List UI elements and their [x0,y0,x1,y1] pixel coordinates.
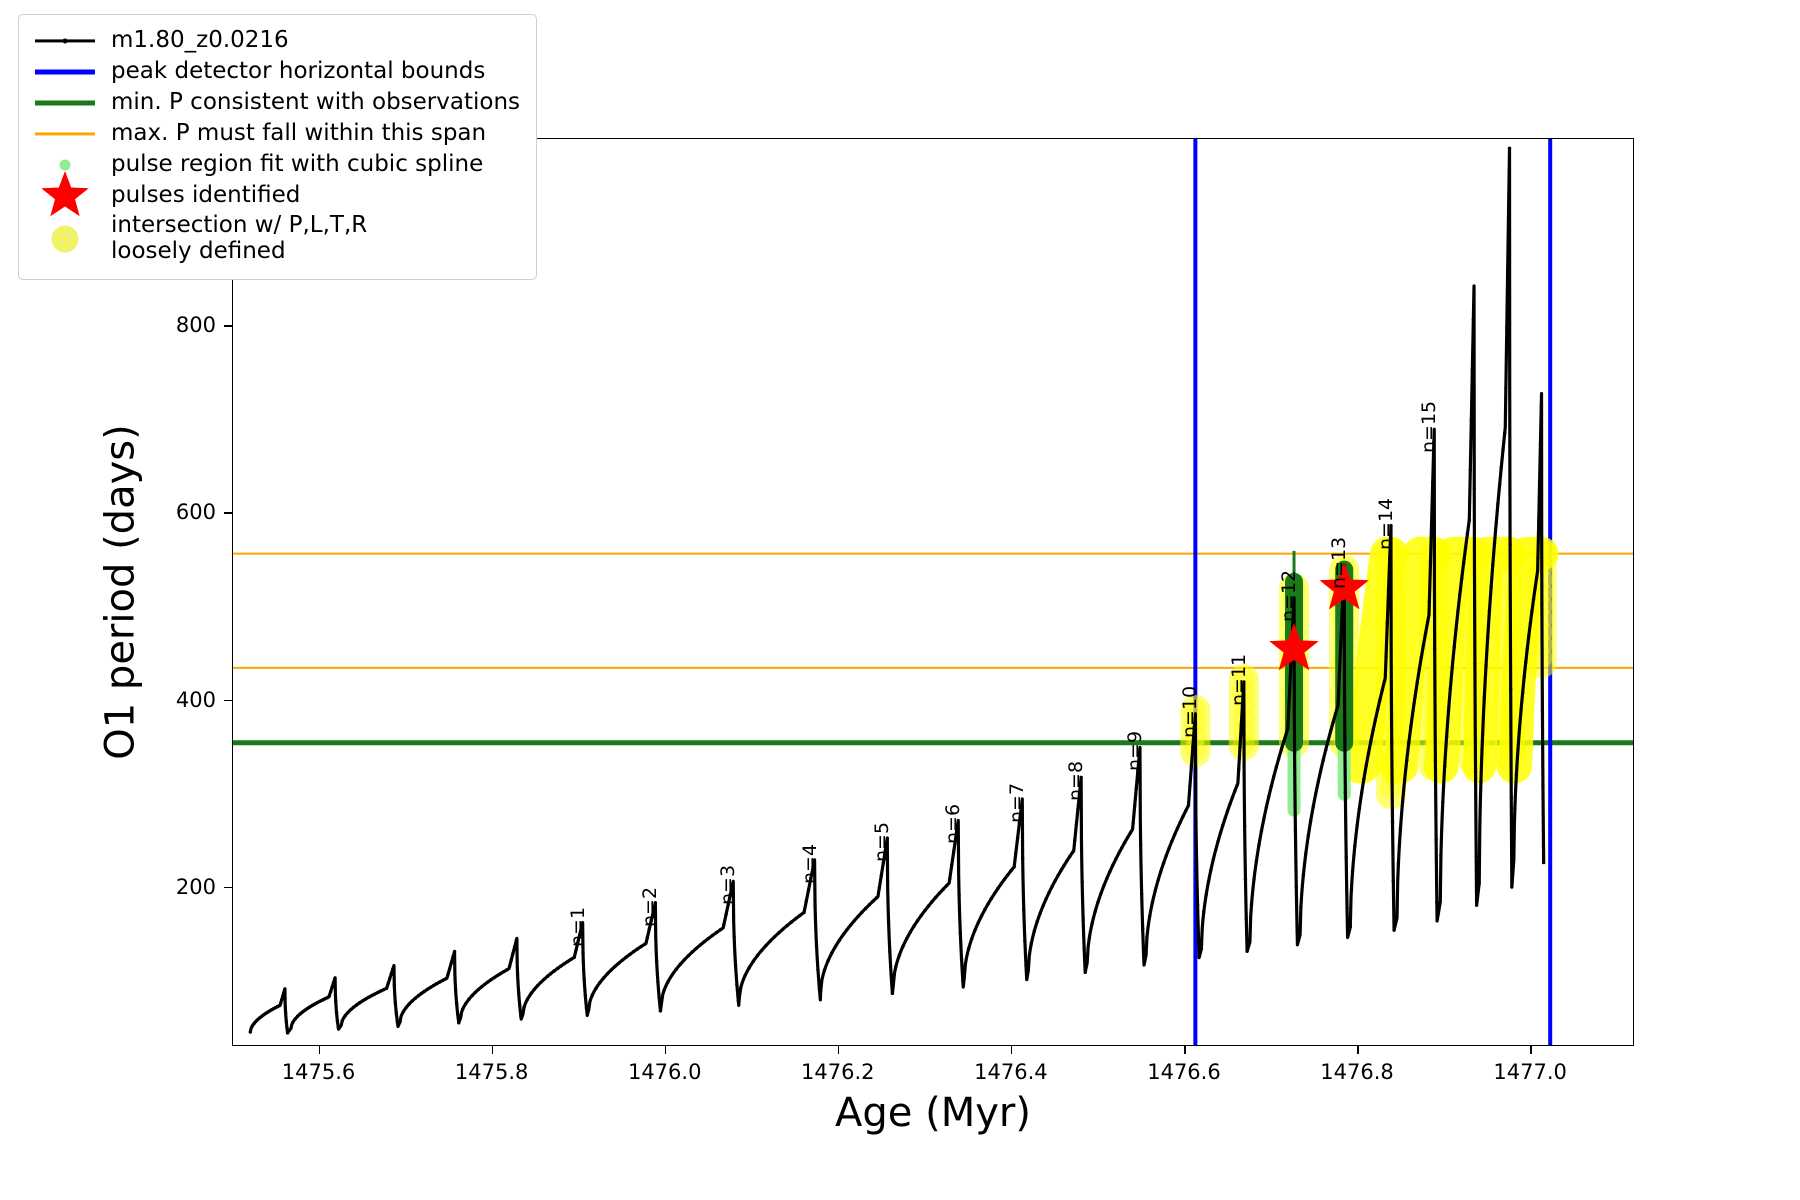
y-axis-tick [224,325,232,327]
legend-line-icon [33,89,97,117]
legend-item-label: peak detector horizontal bounds [111,59,485,83]
x-axis-tick [319,1046,321,1054]
cycle-label: n=4 [799,844,821,884]
legend-item-label: pulse region fit with cubic spline [111,152,483,176]
x-axis-tick [1530,1046,1532,1054]
legend-item[interactable]: max. P must fall within this span [33,118,520,149]
x-axis-tick [1011,1046,1013,1054]
legend-marker-dot-icon [63,38,68,43]
legend-star-icon [33,182,97,210]
legend-line-swatch [35,132,95,135]
x-axis-tick-label: 1476.4 [974,1060,1047,1084]
x-axis-tick-label: 1476.8 [1320,1060,1393,1084]
legend-item-label: min. P consistent with observations [111,90,520,114]
legend-item-label: pulses identified [111,183,300,207]
x-axis-tick [492,1046,494,1054]
legend-item[interactable]: m1.80_z0.0216 [33,25,520,56]
legend-item[interactable]: peak detector horizontal bounds [33,56,520,87]
legend-line-icon [33,58,97,86]
cycle-label: n=14 [1375,497,1397,549]
legend-item-label: max. P must fall within this span [111,121,486,145]
cycle-label: n=7 [1006,783,1028,823]
x-axis-tick-label: 1476.2 [801,1060,874,1084]
cycle-label: n=10 [1179,686,1201,738]
legend-item[interactable]: pulse region fit with cubic spline [33,149,520,180]
cycle-label: n=8 [1065,761,1087,801]
legend-line-swatch [35,69,95,74]
pulse-star [1269,623,1318,670]
x-axis-tick-label: 1477.0 [1493,1060,1566,1084]
cycle-label: n=11 [1228,654,1250,706]
legend-dot-swatch [60,159,71,170]
legend-item-label: intersection w/ P,L,T,Rloosely defined [111,213,367,265]
legend-item-label: m1.80_z0.0216 [111,28,289,52]
x-axis-tick [1184,1046,1186,1054]
y-axis-tick [224,512,232,514]
y-axis-tick-label: 400 [176,688,216,712]
legend-line-icon [33,120,97,148]
y-axis-label-text: O1 period (days) [98,424,144,759]
legend-item[interactable]: intersection w/ P,L,T,Rloosely defined [33,211,520,267]
cycle-label: n=1 [567,906,589,946]
x-axis-tick [665,1046,667,1054]
y-axis-tick-label: 600 [176,500,216,524]
cycle-label: n=2 [639,887,661,927]
legend-line-swatch [35,100,95,105]
cycle-label: n=9 [1124,731,1146,771]
cycle-label: n=15 [1418,401,1440,453]
legend-dot-swatch [52,226,79,253]
legend-item[interactable]: pulses identified [33,180,520,211]
legend-dot-icon [33,225,97,253]
legend-star-swatch [33,170,97,222]
y-axis-tick-label: 200 [176,875,216,899]
figure-canvas: O1 period (days) Age (Myr) n=1n=2n=3n=4n… [0,0,1800,1200]
x-axis-tick [838,1046,840,1054]
y-axis-tick [224,700,232,702]
cycle-label: n=5 [871,822,893,862]
x-axis-tick-label: 1475.8 [455,1060,528,1084]
legend[interactable]: m1.80_z0.0216peak detector horizontal bo… [18,14,537,280]
x-axis-label: Age (Myr) [232,1090,1634,1136]
cycle-label: n=12 [1278,570,1300,622]
legend-item-label-line2: loosely defined [111,239,367,265]
x-axis-tick-label: 1476.0 [628,1060,701,1084]
cycle-label: n=6 [942,804,964,844]
legend-line-icon [33,27,97,55]
x-axis-tick-label: 1476.6 [1147,1060,1220,1084]
x-axis-tick-label: 1475.6 [282,1060,355,1084]
cycle-label: n=3 [717,865,739,905]
legend-item[interactable]: min. P consistent with observations [33,87,520,118]
cycle-label: n=13 [1328,537,1350,589]
x-axis-tick [1357,1046,1359,1054]
y-axis-tick-label: 800 [176,313,216,337]
legend-item-label-line1: intersection w/ P,L,T,R [111,213,367,239]
y-axis-tick [224,887,232,889]
